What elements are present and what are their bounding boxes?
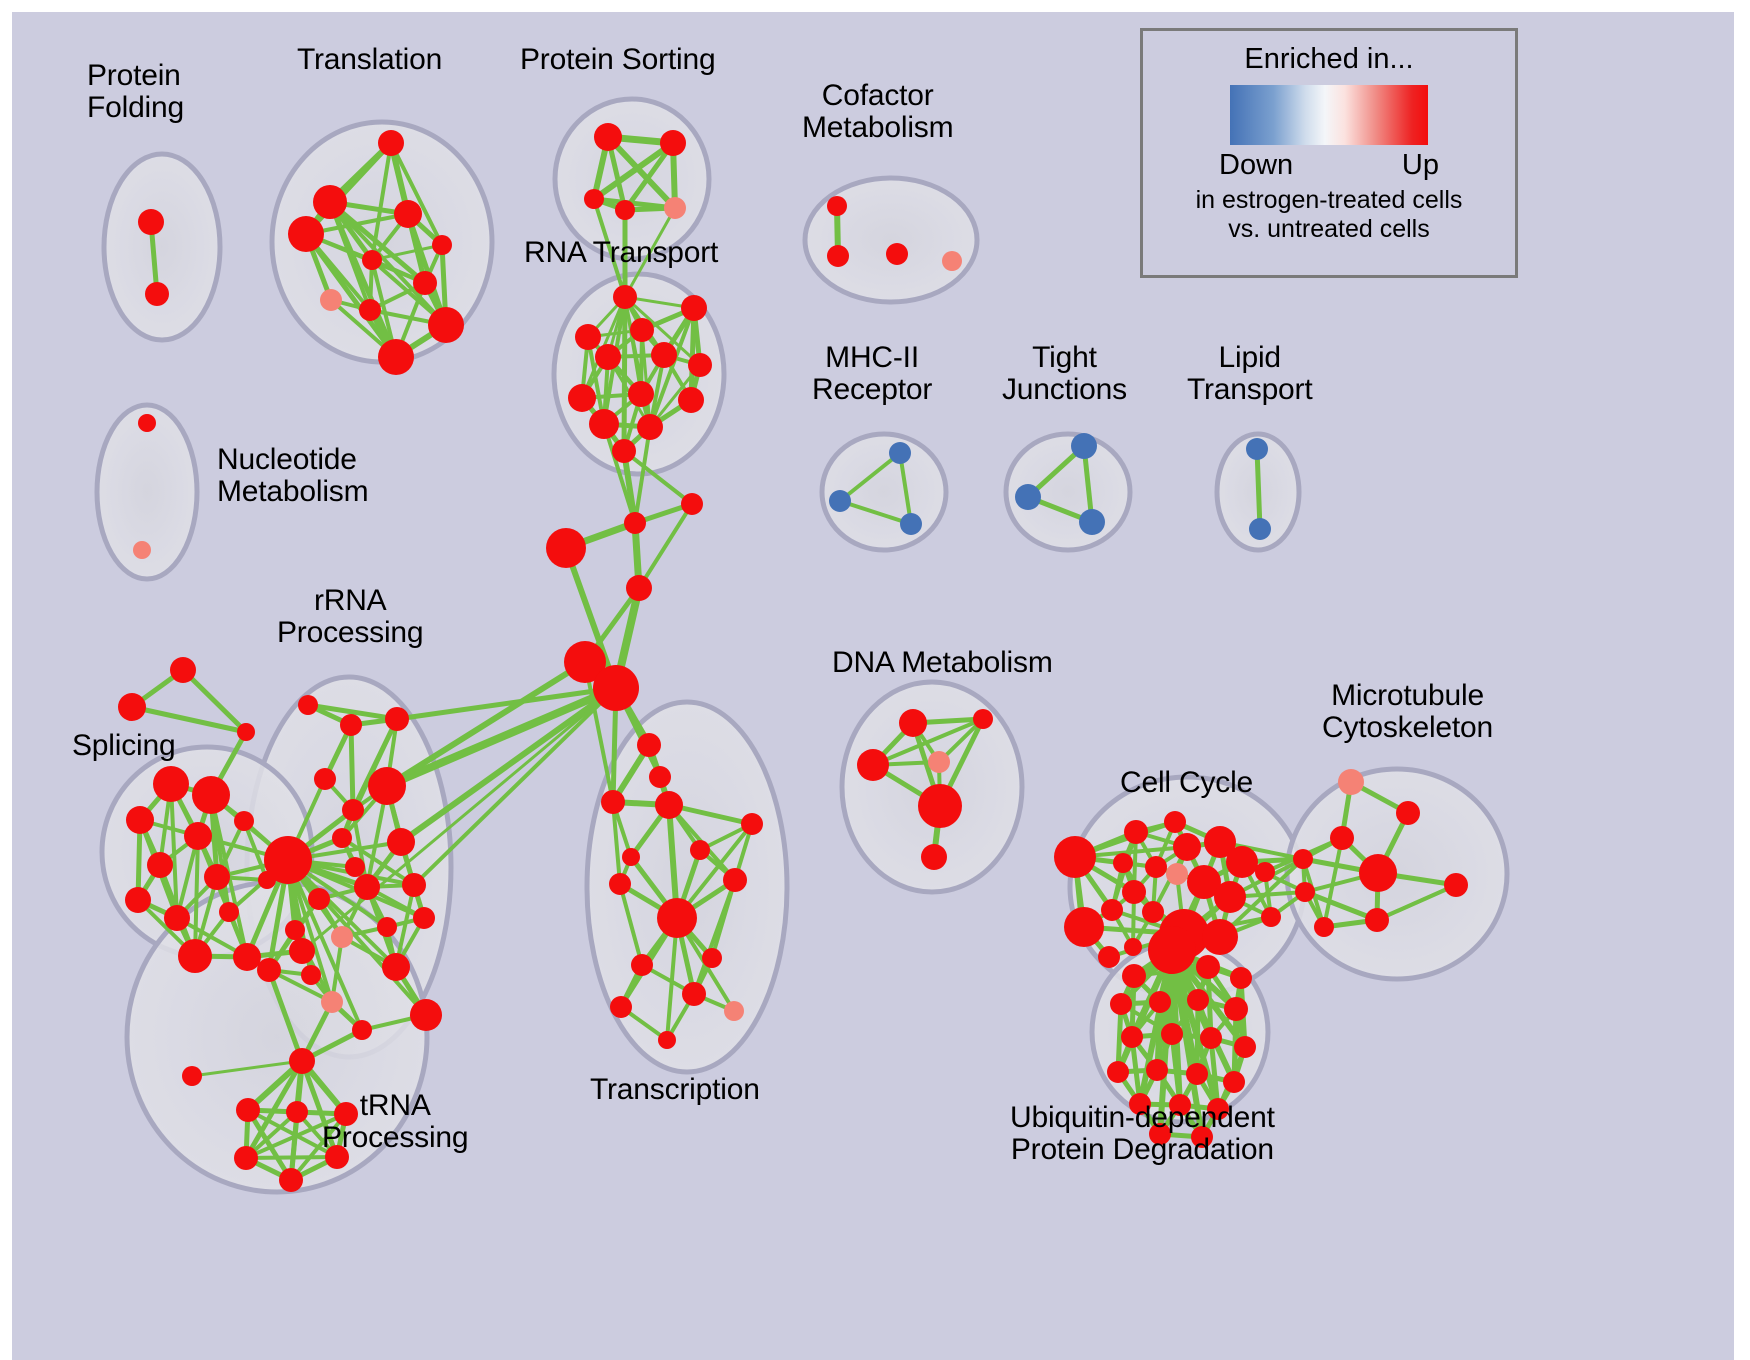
network-node[interactable] bbox=[345, 857, 365, 877]
network-node[interactable] bbox=[1101, 899, 1123, 921]
network-node[interactable] bbox=[1122, 964, 1146, 988]
network-node[interactable] bbox=[342, 799, 364, 821]
network-node[interactable] bbox=[1200, 1027, 1222, 1049]
network-node[interactable] bbox=[233, 943, 261, 971]
cluster-label-dna-metabolism: DNA Metabolism bbox=[832, 647, 1053, 679]
network-node[interactable] bbox=[332, 828, 352, 848]
network-node[interactable] bbox=[1186, 1063, 1208, 1085]
network-node[interactable] bbox=[1079, 509, 1105, 535]
network-node[interactable] bbox=[609, 873, 631, 895]
network-node[interactable] bbox=[378, 339, 414, 375]
network-node[interactable] bbox=[546, 528, 586, 568]
network-node[interactable] bbox=[601, 790, 625, 814]
network-node[interactable] bbox=[394, 200, 422, 228]
network-node[interactable] bbox=[413, 271, 437, 295]
network-node[interactable] bbox=[1295, 882, 1315, 902]
cluster-label-nucleotide-metabolism: Nucleotide Metabolism bbox=[217, 444, 368, 508]
cluster-halo-protein-sorting bbox=[555, 99, 709, 259]
cluster-label-rna-transport: RNA Transport bbox=[524, 237, 718, 269]
network-node[interactable] bbox=[1226, 846, 1258, 878]
network-node[interactable] bbox=[658, 1031, 676, 1049]
network-node[interactable] bbox=[610, 996, 632, 1018]
network-node[interactable] bbox=[942, 251, 962, 271]
cluster-label-protein-sorting: Protein Sorting bbox=[520, 44, 715, 76]
network-node[interactable] bbox=[125, 887, 151, 913]
network-node[interactable] bbox=[377, 917, 397, 937]
network-node[interactable] bbox=[827, 245, 849, 267]
network-node[interactable] bbox=[285, 920, 305, 940]
network-node[interactable] bbox=[660, 130, 686, 156]
network-node[interactable] bbox=[900, 513, 922, 535]
network-node[interactable] bbox=[575, 324, 601, 350]
network-node[interactable] bbox=[681, 295, 707, 321]
network-node[interactable] bbox=[1444, 873, 1468, 897]
network-node[interactable] bbox=[1166, 863, 1188, 885]
network-node[interactable] bbox=[1261, 907, 1281, 927]
legend-color-bar bbox=[1230, 85, 1428, 145]
network-node[interactable] bbox=[1196, 955, 1220, 979]
network-node[interactable] bbox=[1173, 833, 1201, 861]
cluster-label-splicing: Splicing bbox=[72, 730, 175, 762]
network-node[interactable] bbox=[126, 806, 154, 834]
network-node[interactable] bbox=[682, 982, 706, 1006]
cluster-label-cell-cycle: Cell Cycle bbox=[1120, 767, 1253, 799]
network-node[interactable] bbox=[612, 439, 636, 463]
network-node[interactable] bbox=[1098, 946, 1120, 968]
network-node[interactable] bbox=[702, 948, 722, 968]
network-node[interactable] bbox=[723, 868, 747, 892]
network-node[interactable] bbox=[613, 285, 637, 309]
network-node[interactable] bbox=[1246, 438, 1268, 460]
network-node[interactable] bbox=[359, 299, 381, 321]
network-node[interactable] bbox=[681, 493, 703, 515]
cluster-halo-cofactor-metabolism bbox=[805, 178, 977, 302]
network-node[interactable] bbox=[918, 784, 962, 828]
network-node[interactable] bbox=[1255, 862, 1275, 882]
cluster-label-tight-junctions: Tight Junctions bbox=[1002, 342, 1127, 406]
network-node[interactable] bbox=[928, 751, 950, 773]
network-node[interactable] bbox=[385, 707, 409, 731]
network-edge bbox=[414, 688, 616, 885]
network-node[interactable] bbox=[164, 905, 190, 931]
network-node[interactable] bbox=[1015, 484, 1041, 510]
network-node[interactable] bbox=[1249, 518, 1271, 540]
network-node[interactable] bbox=[664, 197, 686, 219]
network-node[interactable] bbox=[145, 282, 169, 306]
cluster-label-lipid-transport: Lipid Transport bbox=[1187, 342, 1312, 406]
network-node[interactable] bbox=[1145, 856, 1167, 878]
network-node[interactable] bbox=[382, 953, 410, 981]
network-node[interactable] bbox=[1113, 853, 1133, 873]
network-node[interactable] bbox=[1223, 1071, 1245, 1093]
network-node[interactable] bbox=[1214, 881, 1246, 913]
network-node[interactable] bbox=[153, 766, 189, 802]
network-node[interactable] bbox=[1064, 907, 1104, 947]
network-node[interactable] bbox=[1146, 1059, 1168, 1081]
network-node[interactable] bbox=[921, 844, 947, 870]
network-node[interactable] bbox=[428, 307, 464, 343]
network-node[interactable] bbox=[1330, 826, 1354, 850]
network-node[interactable] bbox=[286, 1101, 308, 1123]
network-node[interactable] bbox=[657, 898, 697, 938]
network-node[interactable] bbox=[313, 185, 347, 219]
network-node[interactable] bbox=[182, 1066, 202, 1086]
network-node[interactable] bbox=[624, 512, 646, 534]
network-node[interactable] bbox=[690, 840, 710, 860]
network-node[interactable] bbox=[237, 723, 255, 741]
network-node[interactable] bbox=[314, 768, 336, 790]
network-node[interactable] bbox=[234, 1146, 258, 1170]
network-node[interactable] bbox=[236, 1098, 260, 1122]
cluster-label-microtubule-cytoskeleton: Microtubule Cytoskeleton bbox=[1322, 680, 1493, 744]
network-node[interactable] bbox=[138, 209, 164, 235]
cluster-label-cofactor-metabolism: Cofactor Metabolism bbox=[802, 80, 953, 144]
network-node[interactable] bbox=[1230, 967, 1252, 989]
network-edge bbox=[246, 1157, 337, 1158]
legend-high-label: Up bbox=[1402, 149, 1439, 182]
network-node[interactable] bbox=[741, 813, 763, 835]
network-node[interactable] bbox=[589, 409, 619, 439]
network-node[interactable] bbox=[973, 709, 993, 729]
network-node[interactable] bbox=[595, 344, 621, 370]
network-node[interactable] bbox=[1142, 901, 1164, 923]
network-node[interactable] bbox=[402, 873, 426, 897]
network-node[interactable] bbox=[298, 695, 318, 715]
network-node[interactable] bbox=[630, 318, 654, 342]
network-node[interactable] bbox=[1365, 908, 1389, 932]
network-node[interactable] bbox=[352, 1020, 372, 1040]
network-edge bbox=[351, 725, 353, 810]
network-node[interactable] bbox=[340, 714, 362, 736]
network-node[interactable] bbox=[622, 848, 640, 866]
legend-low-label: Down bbox=[1219, 149, 1293, 182]
legend-panel: Enriched in... Down Up in estrogen-treat… bbox=[1140, 28, 1518, 278]
network-node[interactable] bbox=[1107, 1061, 1129, 1083]
network-node[interactable] bbox=[138, 414, 156, 432]
network-node[interactable] bbox=[1187, 989, 1209, 1011]
network-node[interactable] bbox=[1149, 991, 1171, 1013]
network-node[interactable] bbox=[279, 1168, 303, 1192]
network-node[interactable] bbox=[637, 733, 661, 757]
network-node[interactable] bbox=[655, 791, 683, 819]
network-node[interactable] bbox=[362, 250, 382, 270]
network-node[interactable] bbox=[1110, 993, 1132, 1015]
network-node[interactable] bbox=[354, 874, 380, 900]
network-node[interactable] bbox=[288, 216, 324, 252]
network-node[interactable] bbox=[899, 709, 927, 737]
figure-root: Protein FoldingTranslationProtein Sortin… bbox=[0, 0, 1750, 1360]
network-node[interactable] bbox=[1124, 820, 1148, 844]
network-node[interactable] bbox=[301, 965, 321, 985]
network-node[interactable] bbox=[289, 1048, 315, 1074]
network-node[interactable] bbox=[651, 342, 677, 368]
network-canvas: Protein FoldingTranslationProtein Sortin… bbox=[12, 12, 1734, 1360]
network-node[interactable] bbox=[593, 665, 639, 711]
network-node[interactable] bbox=[886, 243, 908, 265]
network-node[interactable] bbox=[378, 130, 404, 156]
network-node[interactable] bbox=[1161, 1023, 1183, 1045]
network-node[interactable] bbox=[170, 657, 196, 683]
network-node[interactable] bbox=[615, 200, 635, 220]
network-node[interactable] bbox=[724, 1001, 744, 1021]
network-node[interactable] bbox=[118, 693, 146, 721]
network-node[interactable] bbox=[637, 414, 663, 440]
network-node[interactable] bbox=[584, 189, 604, 209]
network-node[interactable] bbox=[1314, 917, 1334, 937]
network-node[interactable] bbox=[147, 852, 173, 878]
network-node[interactable] bbox=[1338, 769, 1364, 795]
network-node[interactable] bbox=[234, 811, 254, 831]
network-node[interactable] bbox=[257, 958, 281, 982]
network-edge bbox=[1257, 449, 1260, 529]
network-node[interactable] bbox=[1148, 926, 1196, 974]
network-node[interactable] bbox=[678, 387, 704, 413]
network-node[interactable] bbox=[688, 353, 712, 377]
network-node[interactable] bbox=[628, 381, 654, 407]
network-node[interactable] bbox=[1122, 880, 1146, 904]
network-node[interactable] bbox=[387, 828, 415, 856]
network-node[interactable] bbox=[1234, 1036, 1256, 1058]
network-node[interactable] bbox=[133, 541, 151, 559]
cluster-label-transcription: Transcription bbox=[590, 1074, 760, 1106]
network-node[interactable] bbox=[889, 442, 911, 464]
legend-caption-line1: in estrogen-treated cells bbox=[1196, 186, 1463, 215]
network-node[interactable] bbox=[184, 822, 212, 850]
cluster-label-ubiquitin-protein-degradation: Ubiquitin-dependent Protein Degradation bbox=[1010, 1102, 1275, 1166]
cluster-label-mhc-ii-receptor: MHC-II Receptor bbox=[812, 342, 932, 406]
network-node[interactable] bbox=[631, 954, 653, 976]
legend-title: Enriched in... bbox=[1244, 43, 1413, 76]
network-node[interactable] bbox=[308, 888, 330, 910]
network-node[interactable] bbox=[1121, 1026, 1143, 1048]
network-node[interactable] bbox=[594, 123, 622, 151]
network-node[interactable] bbox=[649, 766, 671, 788]
network-node[interactable] bbox=[568, 384, 596, 412]
network-node[interactable] bbox=[827, 196, 847, 216]
network-node[interactable] bbox=[829, 490, 851, 512]
network-node[interactable] bbox=[1224, 997, 1248, 1021]
network-node[interactable] bbox=[331, 926, 353, 948]
network-node[interactable] bbox=[289, 938, 315, 964]
cluster-label-protein-folding: Protein Folding bbox=[87, 60, 184, 124]
network-node[interactable] bbox=[410, 999, 442, 1031]
network-node[interactable] bbox=[1202, 919, 1238, 955]
network-node[interactable] bbox=[413, 907, 435, 929]
network-node[interactable] bbox=[192, 776, 230, 814]
cluster-label-rrna-processing: rRNA Processing bbox=[277, 585, 423, 649]
network-node[interactable] bbox=[1293, 849, 1313, 869]
network-node[interactable] bbox=[1071, 433, 1097, 459]
cluster-label-trna-processing: tRNA Processing bbox=[322, 1090, 468, 1154]
network-node[interactable] bbox=[626, 575, 652, 601]
network-node[interactable] bbox=[219, 902, 239, 922]
network-node[interactable] bbox=[178, 939, 212, 973]
network-node[interactable] bbox=[1054, 836, 1096, 878]
legend-caption-line2: vs. untreated cells bbox=[1228, 215, 1430, 244]
network-node[interactable] bbox=[432, 235, 452, 255]
network-node[interactable] bbox=[368, 767, 406, 805]
cluster-halo-protein-folding bbox=[104, 154, 220, 340]
network-node[interactable] bbox=[321, 991, 343, 1013]
network-node[interactable] bbox=[1359, 854, 1397, 892]
network-node[interactable] bbox=[1124, 938, 1142, 956]
cluster-label-translation: Translation bbox=[297, 44, 442, 76]
network-node[interactable] bbox=[204, 864, 230, 890]
network-node[interactable] bbox=[320, 289, 342, 311]
network-node[interactable] bbox=[857, 749, 889, 781]
network-node[interactable] bbox=[1164, 811, 1186, 833]
network-node[interactable] bbox=[1396, 801, 1420, 825]
network-node[interactable] bbox=[264, 836, 312, 884]
